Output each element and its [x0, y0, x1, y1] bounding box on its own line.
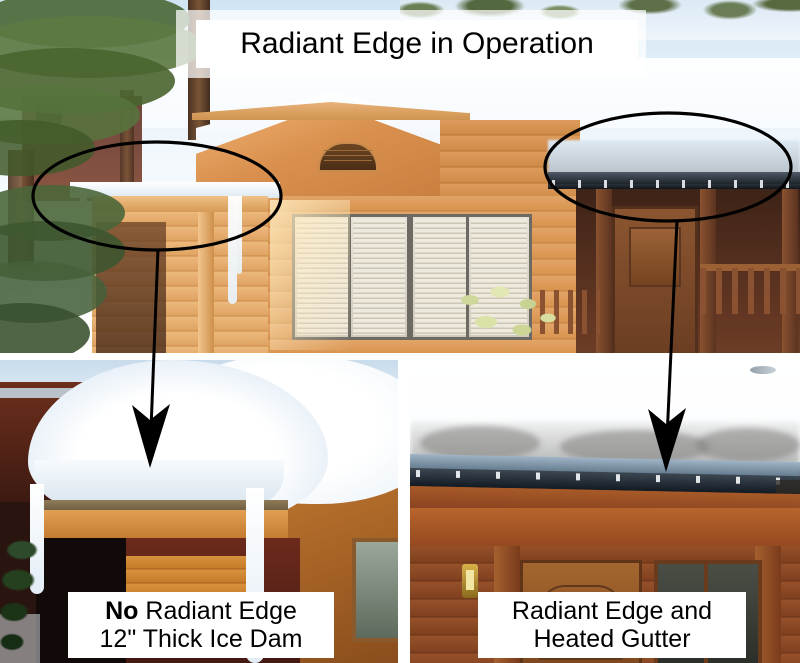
poster-root: Radiant Edge in Operation No Radiant Edg…	[0, 0, 800, 663]
caption-left-emphasis: No	[105, 597, 138, 625]
icicle	[236, 196, 242, 274]
pine-tree	[0, 185, 155, 353]
caption-left-line2: 12" Thick Ice Dam	[100, 625, 303, 653]
caption-left-line1: No Radiant Edge	[105, 597, 297, 625]
shrub	[452, 282, 562, 353]
page-title: Radiant Edge in Operation	[196, 20, 638, 68]
porch-door	[612, 206, 698, 353]
porch-lamp	[462, 564, 478, 598]
distant-bird	[750, 366, 776, 374]
window-blinds	[353, 219, 405, 335]
left-porch-post	[198, 212, 214, 353]
gutter-clips	[552, 180, 796, 188]
porch-railing	[700, 268, 800, 314]
caption-left: No Radiant Edge 12" Thick Ice Dam	[68, 592, 334, 658]
snow-blob	[696, 428, 800, 462]
caption-left-line1-rest: Radiant Edge	[138, 597, 296, 625]
cabin-window	[348, 214, 410, 340]
eave-snow	[548, 140, 800, 174]
title-text: Radiant Edge in Operation	[240, 27, 594, 61]
header-beam	[410, 508, 800, 548]
caption-right-line2: Heated Gutter	[533, 625, 690, 653]
window	[352, 538, 398, 642]
caption-right: Radiant Edge and Heated Gutter	[478, 592, 746, 658]
sun-glare	[270, 200, 350, 350]
evergreen-tree	[0, 536, 52, 663]
caption-right-line1: Radiant Edge and	[512, 597, 712, 625]
